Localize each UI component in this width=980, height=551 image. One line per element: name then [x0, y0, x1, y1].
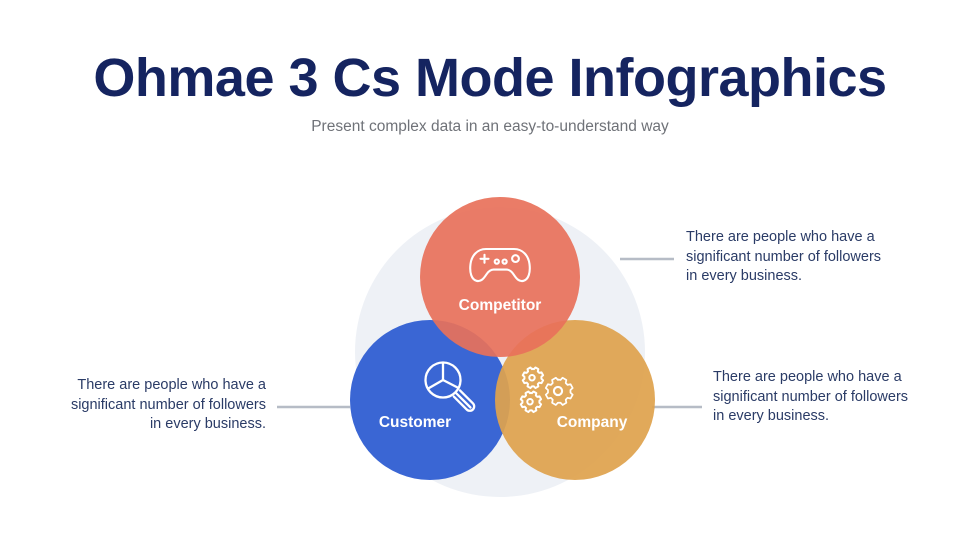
callout-text-competitor: There are people who have a significant … [686, 228, 896, 287]
callout-text-customer: There are people who have a significant … [60, 376, 266, 435]
venn-label-customer: Customer [379, 414, 451, 431]
venn-label-company: Company [557, 414, 628, 431]
venn-circle-competitor[interactable] [420, 197, 580, 357]
callout-text-company: There are people who have a significant … [713, 368, 923, 427]
venn-label-competitor: Competitor [459, 297, 542, 314]
slide-canvas: Ohmae 3 Cs Mode Infographics Present com… [0, 0, 980, 551]
competitor-circle-shape[interactable] [420, 197, 580, 357]
